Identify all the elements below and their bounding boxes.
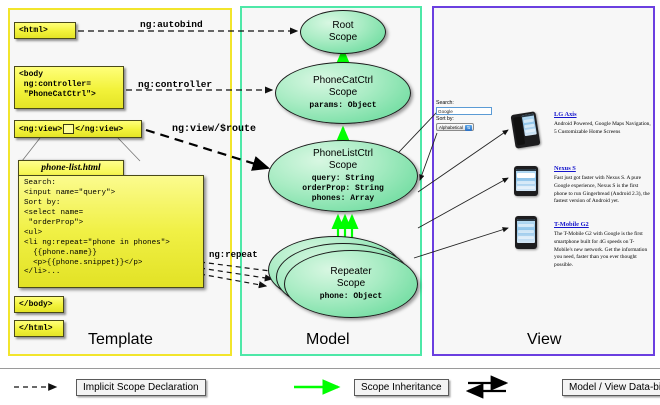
panel-label-model: Model — [306, 331, 350, 349]
scope-repeater: Repeater Scope phone: Object — [284, 250, 418, 318]
scope-repeater-props: phone: Object — [320, 292, 382, 302]
scope-phonecatctrl-props: params: Object — [309, 101, 376, 111]
legend-implicit: Implicit Scope Declaration — [18, 378, 206, 396]
code-body-close: </body> — [14, 296, 64, 313]
phone-screen-3 — [517, 219, 535, 243]
scope-root-title: Root Scope — [329, 20, 357, 44]
phone-screen-row — [517, 186, 535, 189]
panel-label-view: View — [527, 331, 561, 349]
legend-divider — [0, 368, 660, 369]
phone-listing-1: LG Axis Android Powered, Google Maps Nav… — [554, 111, 652, 137]
legend-inheritance: Scope Inheritance — [298, 378, 449, 396]
panel-label-template: Template — [88, 331, 153, 349]
scope-repeater-title: Repeater Scope — [330, 266, 371, 290]
phone-screen-row — [524, 124, 534, 129]
scope-phonecatctrl: PhoneCatCtrl Scope params: Object — [275, 62, 411, 124]
search-label: Search: — [436, 100, 494, 107]
legend-databinding: Model / View Data-binding — [508, 378, 660, 396]
phone-screen-row — [518, 236, 534, 239]
code-html-close: </html> — [14, 320, 64, 337]
legend-label-inheritance: Scope Inheritance — [354, 379, 449, 396]
view-search-form: Search: Google Sort by: Alphabetical ⇅ — [436, 100, 494, 131]
phone-listing-link[interactable]: T-Mobile G2 — [554, 221, 652, 229]
phone-screen-row — [523, 119, 533, 124]
callout-code: Search: <input name="query"> Sort by: <s… — [18, 175, 204, 288]
phone-thumbnail-2 — [514, 166, 538, 196]
phone-listing-3: T-Mobile G2 The T-Mobile G2 with Google … — [554, 221, 652, 270]
phone-listing-snippet: Fast just got faster with Nexus S. A pur… — [554, 175, 652, 206]
label-ng-repeat: ng:repeat — [209, 250, 258, 260]
phone-thumbnail-1 — [510, 111, 540, 148]
scope-phonelistctrl-title: PhoneListCtrl Scope — [313, 148, 373, 172]
sort-select[interactable]: Alphabetical ⇅ — [436, 123, 474, 131]
phone-listing-link[interactable]: Nexus S — [554, 165, 652, 173]
diagram-canvas: <html> <body ng:controller= "PhoneCatCtr… — [0, 0, 660, 405]
search-input[interactable]: Google — [436, 107, 492, 115]
label-ng-autobind: ng:autobind — [140, 19, 203, 30]
phone-statusbar-1 — [522, 114, 534, 118]
phone-listing-snippet: Android Powered, Google Maps Navigation,… — [554, 121, 652, 136]
legend-label-implicit: Implicit Scope Declaration — [76, 379, 206, 396]
scope-phonelistctrl: PhoneListCtrl Scope query: String orderP… — [268, 140, 418, 212]
phone-screen-row — [525, 129, 535, 134]
chevron-down-icon: ⇅ — [465, 125, 472, 131]
code-body-open: <body ng:controller= "PhoneCatCtrl"> — [14, 66, 124, 109]
label-ng-view-route: ng:view/$route — [172, 124, 256, 135]
sort-label: Sort by: — [436, 116, 494, 123]
code-html-open: <html> — [14, 22, 76, 39]
phone-listing-2: Nexus S Fast just got faster with Nexus … — [554, 165, 652, 206]
phone-screen-row — [517, 173, 535, 178]
label-ng-controller: ng:controller — [138, 79, 212, 90]
scope-phonecatctrl-title: PhoneCatCtrl Scope — [313, 75, 373, 99]
phone-thumbnail-3 — [515, 216, 537, 249]
scope-phonelistctrl-props: query: String orderProp: String phones: … — [302, 174, 384, 204]
phone-screen-row — [518, 224, 534, 227]
ngview-open-tag: <ng:view> — [19, 125, 62, 134]
scope-root: Root Scope — [300, 10, 386, 54]
phone-screen-row — [518, 230, 534, 233]
code-ngview: <ng:view></ng:view> — [14, 120, 142, 138]
phone-screen-row — [517, 181, 535, 184]
phone-screen-1 — [522, 114, 537, 137]
phone-list-callout: phone-list.html Search: <input name="que… — [18, 160, 204, 290]
phone-statusbar-2 — [516, 169, 536, 171]
phone-listing-link[interactable]: LG Axis — [554, 111, 652, 119]
legend-label-databinding: Model / View Data-binding — [562, 379, 660, 396]
sort-select-value: Alphabetical — [439, 125, 463, 130]
phone-statusbar-3 — [517, 219, 535, 221]
phone-screen-2 — [516, 169, 536, 191]
ngview-close-tag: </ng:view> — [75, 125, 123, 134]
ngview-placeholder-icon — [63, 124, 74, 134]
phone-listing-snippet: The T-Mobile G2 with Google is the first… — [554, 231, 652, 269]
